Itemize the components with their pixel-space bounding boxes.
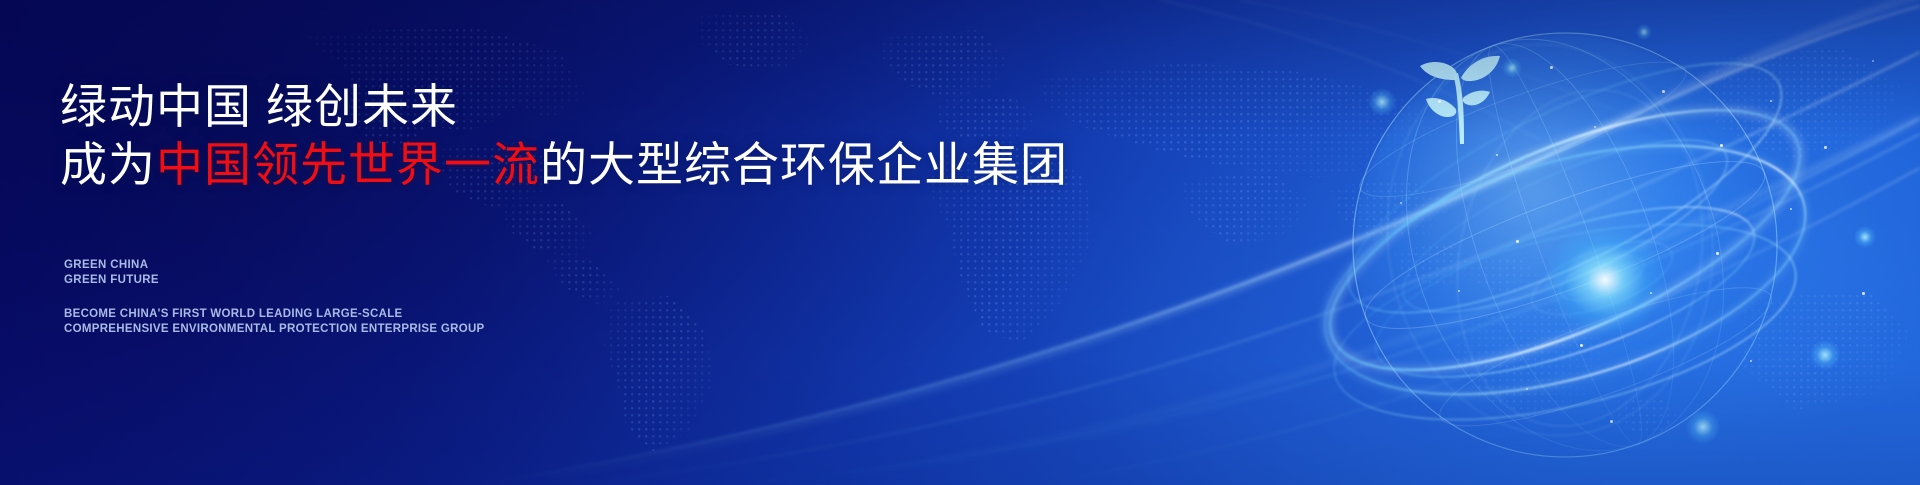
subtitle-slogan-en: GREEN CHINA GREEN FUTURE [64,258,159,288]
green-sprout-leaf-icon [1410,50,1510,146]
particle-glow [1686,410,1720,444]
particle-glow [1368,88,1396,116]
particle-dot [1716,252,1719,255]
banner-copy: 绿动中国 绿创未来 成为中国领先世界一流的大型综合环保企业集团 GREEN CH… [60,0,1060,485]
particle-dot [1770,100,1772,102]
particle-dot [1496,154,1498,156]
particle-dot [1790,208,1792,210]
particle-glow [1810,340,1840,370]
headline-line-2-suffix: 的大型综合环保企业集团 [540,138,1068,191]
particle-dot [1580,344,1583,347]
subtitle-mission-line-1: BECOME CHINA'S FIRST WORLD LEADING LARGE… [64,307,485,322]
particle-dot [1516,240,1519,243]
particle-dot [1750,360,1752,362]
particle-dot [1862,292,1865,295]
headline-line-2: 成为中国领先世界一流的大型综合环保企业集团 [60,136,1068,194]
globe-center-hotspot [1545,225,1665,335]
particle-glow [1854,226,1876,248]
particle-dot [1650,292,1652,294]
particle-dot [1400,202,1402,204]
globe-rings [1250,0,1910,485]
particle-dot [1526,388,1528,390]
particle-dot [1550,66,1553,69]
particle-dot [1824,146,1827,149]
particle-glow [1636,24,1652,40]
headline-line-2-highlight: 中国领先世界一流 [156,138,540,191]
headline-line-1: 绿动中国 绿创未来 [60,80,458,133]
hero-banner: 绿动中国 绿创未来 成为中国领先世界一流的大型综合环保企业集团 GREEN CH… [0,0,1920,485]
particle-dot [1594,126,1596,128]
subtitle-slogan-line-1: GREEN CHINA [64,258,159,273]
particle-dot [1438,100,1441,103]
particle-dot [1662,90,1665,93]
subtitle-slogan-line-2: GREEN FUTURE [64,273,159,288]
particle-dot [1458,290,1460,292]
particle-dot [1610,420,1613,423]
globe-core-glow [1355,35,1775,455]
headline-line-2-prefix: 成为 [60,138,156,191]
subtitle-mission-line-2: COMPREHENSIVE ENVIRONMENTAL PROTECTION E… [64,322,485,337]
headline: 绿动中国 绿创未来 成为中国领先世界一流的大型综合环保企业集团 [60,78,1068,195]
glowing-wireframe-globe [1250,0,1910,485]
subtitle-mission-en: BECOME CHINA'S FIRST WORLD LEADING LARGE… [64,307,485,337]
particle-dot [1872,60,1874,62]
particle-dot [1720,144,1723,147]
particle-glow [1502,58,1522,78]
